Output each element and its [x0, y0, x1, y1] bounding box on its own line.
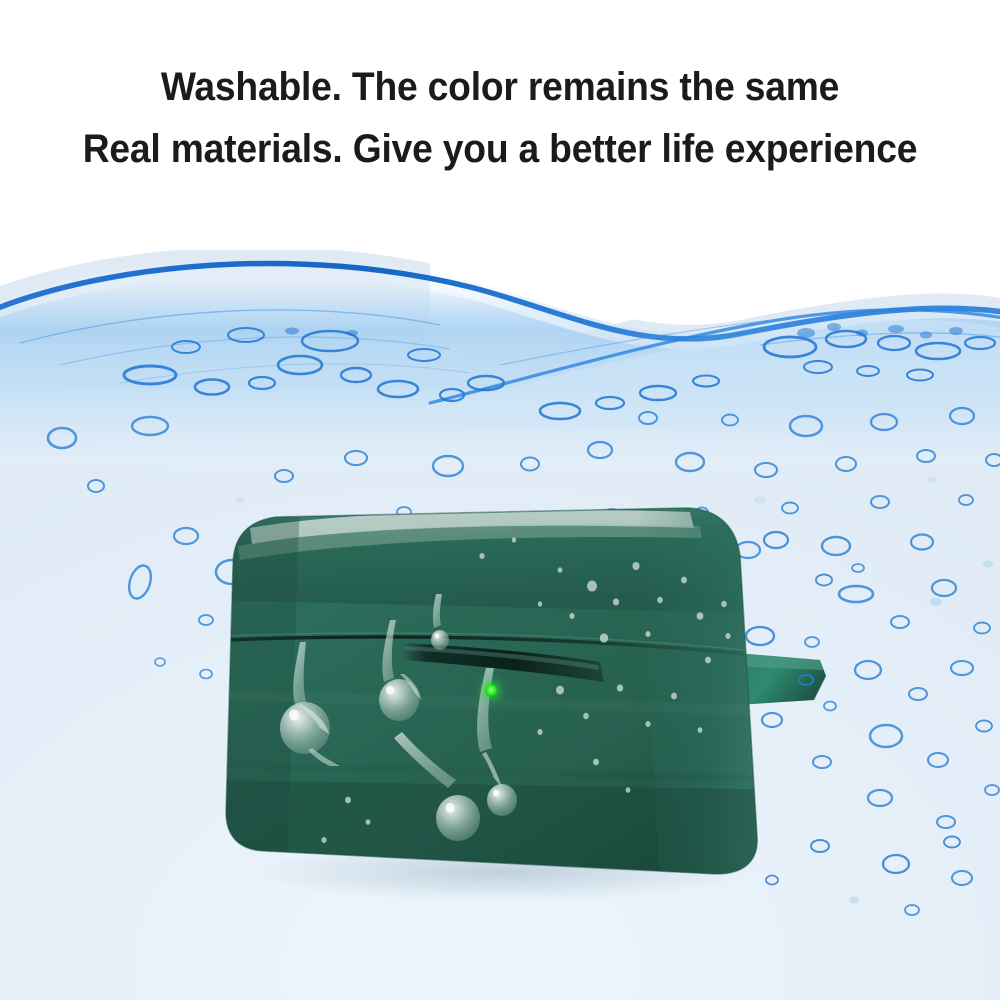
headline-line-2: Real materials. Give you a better life e… — [35, 118, 965, 180]
water-surface-white-veil — [430, 250, 1000, 380]
product-banner-scene: Washable. The color remains the same Rea… — [0, 0, 1000, 1000]
headline-line-1: Washable. The color remains the same — [35, 56, 965, 118]
headline-block: Washable. The color remains the same Rea… — [0, 56, 1000, 180]
charging-indicator-led — [485, 684, 497, 697]
